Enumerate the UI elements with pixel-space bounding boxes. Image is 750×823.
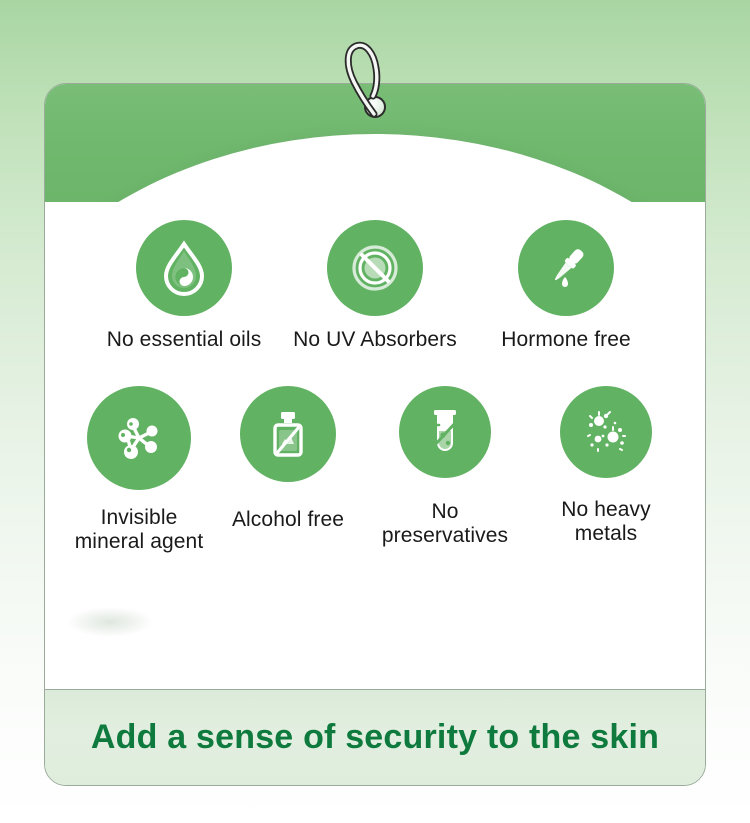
- feature-label: No preservatives: [382, 500, 508, 548]
- feature-alcohol-free[interactable]: Alcohol free: [213, 386, 363, 532]
- feature-label: No UV Absorbers: [293, 328, 457, 352]
- feature-row-1: No essential oils No UV Absorbers: [59, 202, 691, 352]
- feature-invisible-mineral-agent[interactable]: Invisible mineral agent: [65, 386, 213, 554]
- paperclip-hook-icon: [340, 36, 400, 122]
- feature-label: Hormone free: [501, 328, 631, 352]
- paper-smudge: [67, 607, 153, 637]
- product-claims-card: No essential oils No UV Absorbers: [44, 83, 706, 786]
- feature-label: No heavy metals: [561, 498, 651, 546]
- test-tube-icon: [399, 386, 491, 478]
- no-uv-sun-icon: [327, 220, 423, 316]
- feature-no-uv-absorbers[interactable]: No UV Absorbers: [279, 220, 471, 352]
- dropper-pipette-icon: [518, 220, 614, 316]
- feature-row-2: Invisible mineral agent Alcohol free: [59, 352, 691, 554]
- feature-label: No essential oils: [107, 328, 262, 352]
- feature-no-heavy-metals[interactable]: No heavy metals: [527, 386, 685, 546]
- hanging-hook: [340, 36, 400, 122]
- header-arc: [45, 134, 705, 202]
- bottle-no-alcohol-icon: [240, 386, 336, 482]
- feature-no-essential-oils[interactable]: No essential oils: [89, 220, 279, 352]
- tagline-text: Add a sense of security to the skin: [91, 718, 659, 757]
- feature-label: Invisible mineral agent: [75, 506, 204, 554]
- particles-icon: [560, 386, 652, 478]
- tagline-banner: Add a sense of security to the skin: [45, 689, 705, 785]
- feature-no-preservatives[interactable]: No preservatives: [363, 386, 527, 548]
- feature-label: Alcohol free: [232, 508, 344, 532]
- feature-hormone-free[interactable]: Hormone free: [471, 220, 661, 352]
- features-area: No essential oils No UV Absorbers: [45, 202, 705, 689]
- molecule-icon: [87, 386, 191, 490]
- oil-droplet-icon: [136, 220, 232, 316]
